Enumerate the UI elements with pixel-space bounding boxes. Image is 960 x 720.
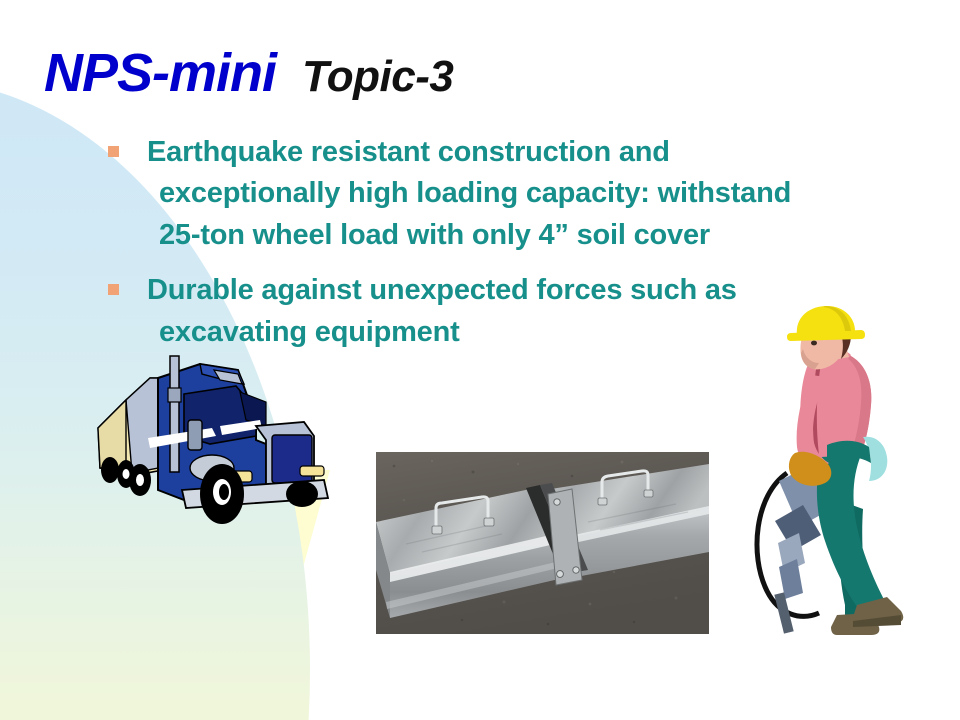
square-bullet-icon: [108, 284, 119, 295]
galvanized-duct-photo: [376, 452, 709, 634]
slide-title: NPS-mini Topic-3: [44, 42, 453, 104]
title-sub-text: Topic-3: [302, 52, 453, 102]
bullet-text-block: Earthquake resistant construction and ex…: [147, 132, 791, 256]
semi-truck-icon: [88, 340, 340, 530]
bullet-line: Earthquake resistant construction and: [147, 132, 791, 173]
jackhammer-worker-icon: [745, 305, 910, 643]
bullet-line: exceptionally high loading capacity: wit…: [147, 173, 791, 214]
square-bullet-icon: [108, 146, 119, 157]
bullet-line: Durable against unexpected forces such a…: [147, 270, 737, 311]
list-item: Earthquake resistant construction and ex…: [108, 132, 908, 256]
title-main-text: NPS-mini: [44, 42, 276, 104]
slide-canvas: NPS-mini Topic-3 Earthquake resistant co…: [0, 0, 960, 720]
bullet-line: 25-ton wheel load with only 4” soil cove…: [147, 215, 791, 256]
